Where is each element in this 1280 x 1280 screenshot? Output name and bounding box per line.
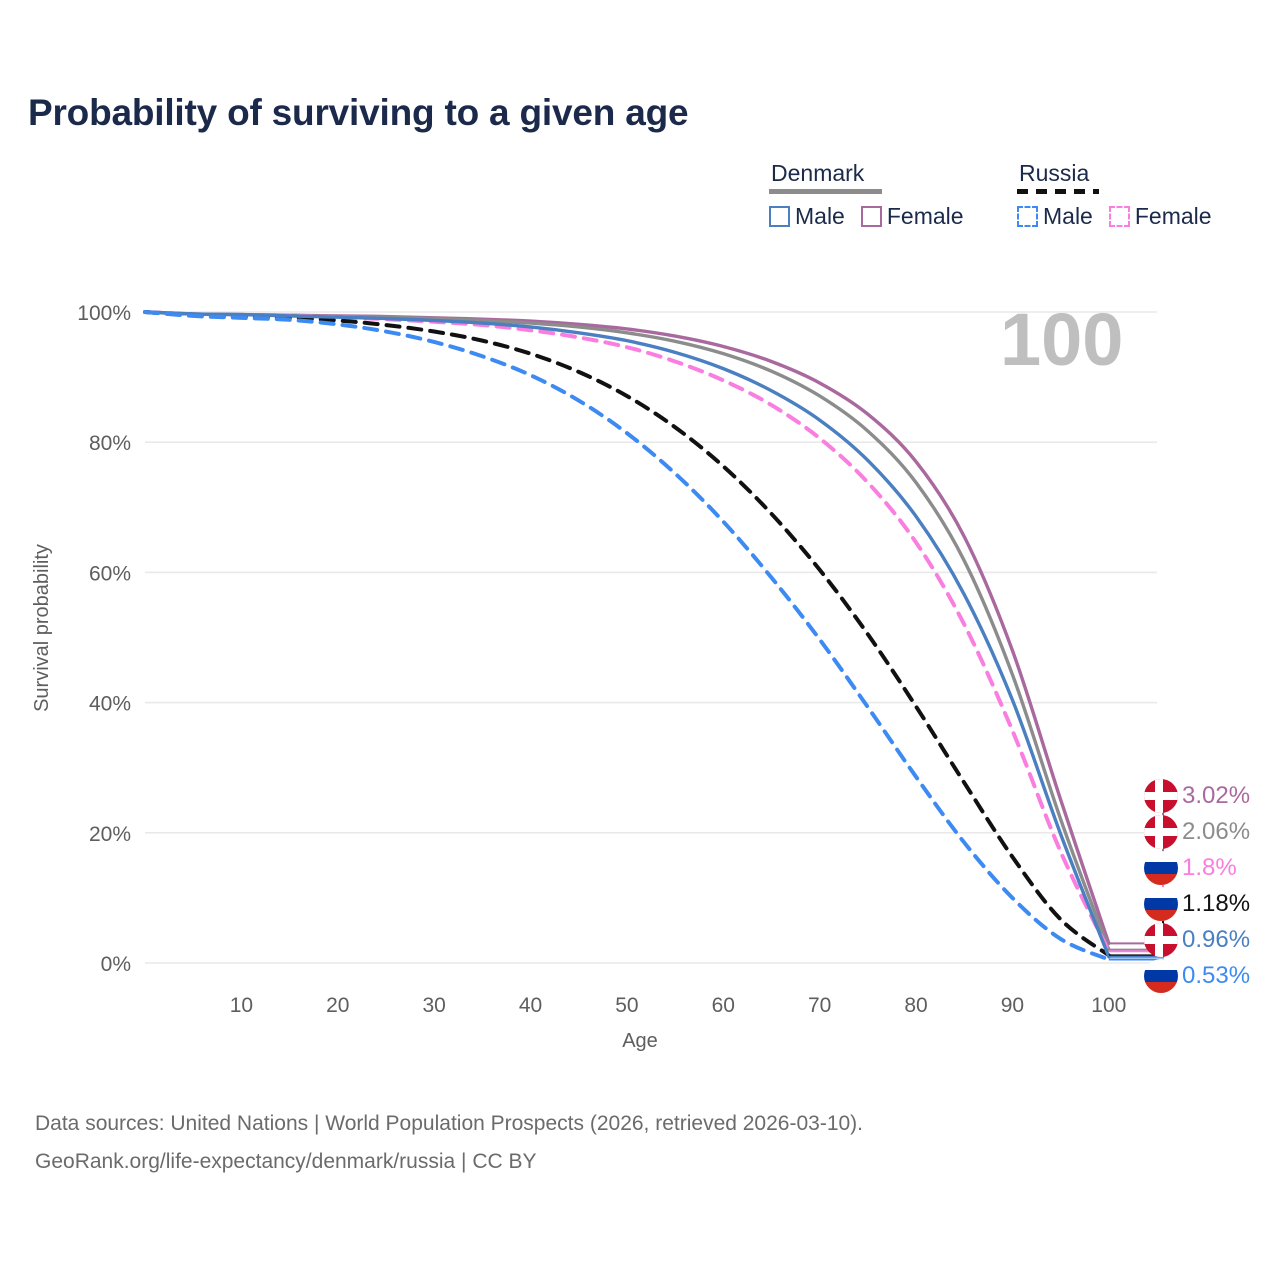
footer-attribution: GeoRank.org/life-expectancy/denmark/russ… bbox=[35, 1143, 863, 1181]
end-value: 0.96% bbox=[1182, 926, 1250, 954]
legend-swatch-denmark-female bbox=[861, 206, 882, 227]
series-line-russia-male bbox=[145, 312, 1109, 955]
end-label-row: 0.96% bbox=[1144, 922, 1280, 958]
x-tick-50: 50 bbox=[615, 994, 638, 1017]
x-tick-40: 40 bbox=[519, 994, 542, 1017]
end-value: 0.53% bbox=[1182, 962, 1250, 990]
series-line-russia-female bbox=[145, 312, 1109, 951]
footer-sources: Data sources: United Nations | World Pop… bbox=[35, 1105, 863, 1143]
x-tick-80: 80 bbox=[904, 994, 927, 1017]
series-line-denmark-female-upper bbox=[145, 312, 1109, 950]
y-tick-0%: 0% bbox=[101, 953, 131, 976]
legend-swatch-russia-female bbox=[1109, 206, 1130, 227]
end-value-labels: 3.02%2.06%1.8%1.18%0.96%0.53% bbox=[1144, 778, 1280, 994]
legend-rule-russia bbox=[1017, 189, 1099, 194]
x-tick-70: 70 bbox=[808, 994, 831, 1017]
legend-label-russia-female: Female bbox=[1135, 203, 1212, 230]
y-axis-tick-labels: 0%20%40%60%80%100% bbox=[77, 302, 131, 976]
end-value: 1.18% bbox=[1182, 890, 1250, 918]
page-title: Probability of surviving to a given age bbox=[28, 92, 688, 134]
x-tick-10: 10 bbox=[230, 994, 253, 1017]
legend-label-denmark-male: Male bbox=[795, 203, 845, 230]
grid-lines bbox=[145, 312, 1157, 963]
y-tick-80%: 80% bbox=[89, 432, 131, 455]
russia-flag bbox=[1144, 887, 1178, 921]
legend-group-title-russia: Russia bbox=[1017, 160, 1257, 186]
russia-flag bbox=[1144, 851, 1178, 885]
x-tick-90: 90 bbox=[1001, 994, 1024, 1017]
x-axis-title: Age bbox=[622, 1030, 658, 1052]
x-tick-20: 20 bbox=[326, 994, 349, 1017]
footer: Data sources: United Nations | World Pop… bbox=[35, 1105, 863, 1181]
series-line-russia-male-lower bbox=[145, 312, 1109, 960]
denmark-flag bbox=[1144, 779, 1178, 813]
legend-swatch-denmark-male bbox=[769, 206, 790, 227]
legend-group-denmark: Denmark Male Female bbox=[769, 160, 999, 230]
legend-item-russia-male[interactable]: Male bbox=[1017, 203, 1093, 230]
russia-flag bbox=[1144, 959, 1178, 993]
end-value: 2.06% bbox=[1182, 818, 1250, 846]
legend-rule-denmark bbox=[769, 189, 882, 194]
legend-item-russia-female[interactable]: Female bbox=[1109, 203, 1212, 230]
series-line-denmark-male bbox=[145, 312, 1109, 957]
legend-label-denmark-female: Female bbox=[887, 203, 964, 230]
x-tick-30: 30 bbox=[422, 994, 445, 1017]
chart-legend: Denmark Male Female Russia Male Female bbox=[755, 160, 1255, 242]
denmark-flag bbox=[1144, 923, 1178, 957]
y-tick-100%: 100% bbox=[77, 302, 131, 325]
legend-group-russia: Russia Male Female bbox=[1017, 160, 1257, 230]
x-tick-60: 60 bbox=[712, 994, 735, 1017]
legend-group-title-denmark: Denmark bbox=[769, 160, 999, 186]
y-tick-40%: 40% bbox=[89, 693, 131, 716]
end-label-row: 3.02% bbox=[1144, 778, 1280, 814]
end-value: 1.8% bbox=[1182, 854, 1237, 882]
end-label-row: 1.18% bbox=[1144, 886, 1280, 922]
series-line-denmark-female bbox=[145, 312, 1109, 943]
end-label-row: 1.8% bbox=[1144, 850, 1280, 886]
end-value: 3.02% bbox=[1182, 782, 1250, 810]
x-axis-tick-labels: 102030405060708090100 bbox=[230, 994, 1127, 1017]
y-tick-60%: 60% bbox=[89, 562, 131, 585]
end-label-row: 2.06% bbox=[1144, 814, 1280, 850]
y-axis-title: Survival probability bbox=[31, 544, 53, 712]
series-lines bbox=[145, 312, 1109, 960]
legend-item-denmark-female[interactable]: Female bbox=[861, 203, 964, 230]
legend-label-russia-male: Male bbox=[1043, 203, 1093, 230]
legend-item-denmark-male[interactable]: Male bbox=[769, 203, 845, 230]
x-tick-100: 100 bbox=[1091, 994, 1126, 1017]
end-label-row: 0.53% bbox=[1144, 958, 1280, 994]
denmark-flag bbox=[1144, 815, 1178, 849]
legend-swatch-russia-male bbox=[1017, 206, 1038, 227]
watermark-100: 100 bbox=[1000, 298, 1123, 381]
y-tick-20%: 20% bbox=[89, 823, 131, 846]
